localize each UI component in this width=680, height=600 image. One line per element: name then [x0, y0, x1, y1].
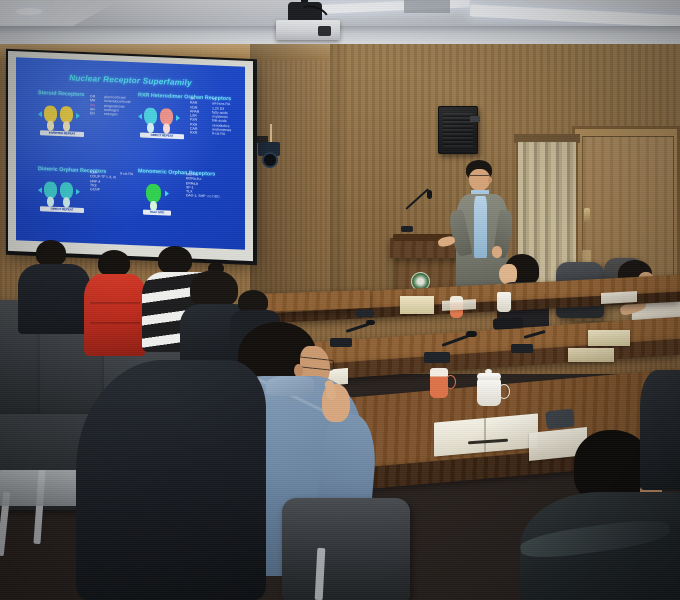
arrow-icon — [38, 111, 42, 117]
slide-quadrant-rxr-heterodimer: RXR Heterodimer Orphan Receptors DIRECT … — [138, 92, 244, 135]
speaker-grill — [443, 113, 473, 147]
tissue-box — [568, 348, 614, 362]
podium-mic-base — [401, 226, 413, 232]
slide-quadrant-steroid: Steroid Receptors INVERTED REPEAT GRMRPR… — [38, 90, 138, 133]
presenter-ear — [488, 177, 492, 183]
red-puffer-jacket — [84, 274, 146, 356]
receptor-diagram: DIRECT REPEAT — [38, 175, 138, 209]
attendee-hair — [190, 270, 238, 308]
receptor-ligand-list: 9-cis RA — [120, 172, 133, 177]
microphone-head — [366, 320, 375, 325]
teacup-knob — [485, 369, 492, 374]
tissue-box — [400, 296, 434, 314]
recessed-downlight-icon — [16, 8, 42, 15]
paper-cup — [497, 292, 511, 312]
podium-microphone-head — [427, 190, 432, 199]
presenter-shirt — [474, 196, 487, 258]
jacket-quilt-line — [90, 302, 140, 304]
attendee-hair — [36, 240, 66, 266]
receptor-stem — [63, 197, 70, 207]
receptor-name-list: GRMRPRARER — [90, 94, 95, 116]
smartphone[interactable] — [493, 317, 524, 330]
door-handle-icon[interactable] — [584, 208, 590, 222]
slide-quadrant-monomeric-orphan: Monomeric Orphan Receptors HALF SITE NGF… — [138, 168, 244, 211]
air-vent — [404, 0, 450, 13]
attendee-hair — [98, 250, 130, 276]
microphone-head — [466, 331, 477, 337]
teacup-lid — [477, 373, 501, 380]
tissue-box — [588, 330, 630, 346]
mug-handle — [445, 375, 456, 389]
receptor-name-list: TRRARVDRPPARLXRFXRPXRCARRXR — [190, 96, 199, 135]
receptor-stem — [47, 197, 54, 207]
device[interactable] — [545, 409, 575, 430]
attendee-torso — [640, 370, 680, 490]
receptor-ligand-list: T3all-trans RA1,25 D3fatty acidsoxystero… — [212, 97, 231, 136]
receptor-name-list: RXRCOUP-TF I, II, IIIHNF-4TR2GCNF — [90, 170, 116, 193]
notebook-spine — [484, 418, 486, 452]
slide-quadrant-dimeric-orphan: Dimeric Orphan Receptors DIRECT REPEAT R… — [38, 166, 138, 209]
presenter-glasses-icon — [470, 175, 489, 180]
wall-shadow — [250, 44, 345, 294]
presenter-right-hand — [492, 246, 502, 258]
projected-slide: Nuclear Receptor Superfamily Steroid Rec… — [16, 57, 245, 250]
arrow-icon — [165, 190, 169, 196]
arrow-icon — [38, 187, 42, 193]
name-plate — [601, 291, 637, 304]
desk-microphone — [424, 352, 450, 363]
conference-room-photo: Nuclear Receptor Superfamily Steroid Rec… — [0, 0, 680, 600]
receptor-ligand-list: glucocorticoidmineralocorticoidprogester… — [104, 95, 130, 118]
dark-coat — [76, 360, 266, 600]
wall-speaker — [438, 106, 478, 154]
chair[interactable] — [282, 498, 410, 600]
attendee-hair — [158, 246, 192, 274]
desk-microphone — [330, 338, 352, 347]
chair-seat-cushion — [0, 470, 86, 506]
receptor-stem — [63, 121, 70, 131]
receptor-stem — [47, 121, 54, 131]
notepad — [442, 299, 476, 311]
attendee-torso — [18, 264, 90, 334]
jacket-quilt-line — [90, 322, 140, 324]
receptor-stem — [147, 123, 154, 133]
camera-lens-icon — [262, 152, 278, 168]
arrow-icon — [76, 113, 80, 119]
projector-lens-icon — [318, 26, 331, 36]
arrow-icon — [76, 189, 80, 195]
presenter-face — [469, 169, 490, 191]
desk-microphone — [511, 344, 533, 353]
shirt-collar — [266, 376, 314, 396]
receptor-name-list: NGFI-BRORa,b,cERRa,bSF-1TLXDAX-1, SHP no… — [186, 172, 220, 199]
desk-microphone — [356, 310, 374, 317]
speaker-bracket — [470, 116, 480, 122]
arrow-icon — [176, 115, 180, 121]
teacup-handle — [498, 384, 510, 399]
receptor-stem — [163, 123, 170, 133]
arrow-icon — [138, 113, 142, 119]
